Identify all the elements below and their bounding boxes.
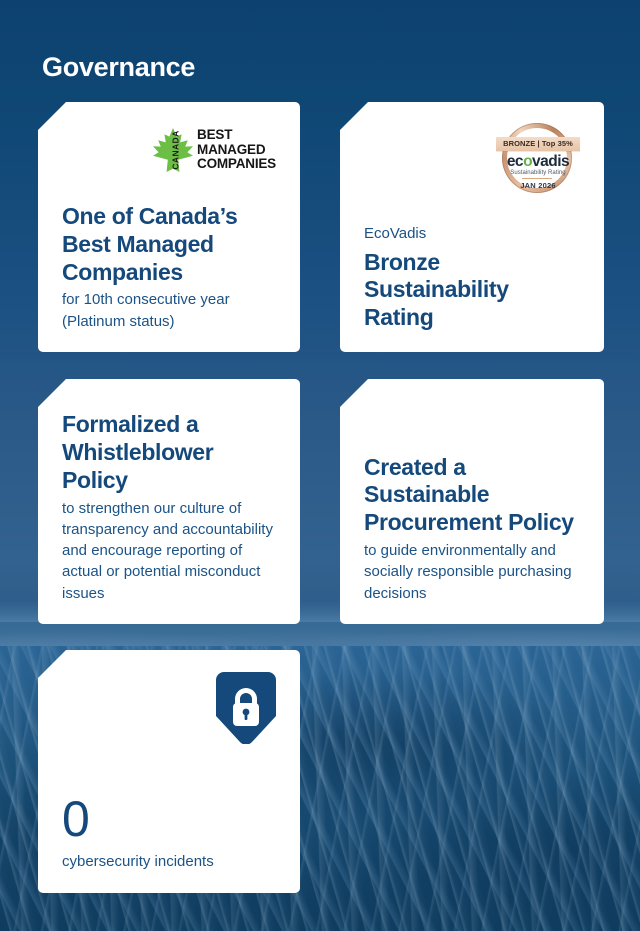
logo-canada-text: CANADA [170,130,180,169]
card-badge-row: ecovadis Sustainability Rating JAN 2026 … [364,124,580,198]
card-headline: Formalized a Whistleblower Policy [62,411,276,494]
maple-leaf-icon: CANADA [152,126,194,174]
card-best-managed-companies: CANADA BEST MANAGED COMPANIES One of Can… [38,102,300,352]
logo-line-managed: MANAGED [197,143,276,158]
card-body: EcoVadis Bronze Sustainability Rating [364,224,580,332]
medal-wordmark-part2: vadis [532,153,569,170]
card-headline: Created a Sustainable Procurement Policy [364,454,580,537]
card-whistleblower-policy: Formalized a Whistleblower Policy to str… [38,379,300,624]
medal-date: JAN 2026 [496,181,580,190]
card-subline: to guide environmentally and socially re… [364,540,580,604]
card-eyebrow: EcoVadis [364,224,580,244]
governance-infographic-page: Governance CANADA BEST MANAGED COMPANIES [0,0,640,931]
page-title: Governance [42,52,195,83]
card-headline: One of Canada’s Best Managed Companies [62,203,276,286]
stat-number: 0 [62,794,276,844]
card-icon-row [62,672,276,744]
medal-wordmark-dot: o [523,153,532,170]
card-body: One of Canada’s Best Managed Companies f… [62,203,276,332]
card-logo-row: CANADA BEST MANAGED COMPANIES [62,124,276,178]
card-body: Formalized a Whistleblower Policy to str… [62,411,276,604]
medal-subtitle: Sustainability Rating [496,170,580,176]
card-body: 0 cybersecurity incidents [62,794,276,873]
medal-divider [522,178,552,179]
stat-label: cybersecurity incidents [62,852,276,873]
medal-wordmark: ecovadis [496,153,580,171]
canada-best-managed-companies-logo: CANADA BEST MANAGED COMPANIES [152,126,276,174]
card-cybersecurity-incidents: 0 cybersecurity incidents [38,650,300,893]
card-subline: for 10th consecutive year (Platinum stat… [62,289,276,332]
card-body: Created a Sustainable Procurement Policy… [364,454,580,604]
lock-shield-icon [216,672,276,744]
logo-wordmark: BEST MANAGED COMPANIES [197,128,276,172]
logo-line-best: BEST [197,128,276,143]
ecovadis-medal-icon: ecovadis Sustainability Rating JAN 2026 … [496,123,580,197]
card-ecovadis-rating: ecovadis Sustainability Rating JAN 2026 … [340,102,604,352]
logo-line-companies: COMPANIES [197,157,276,172]
medal-wordmark-part1: ec [507,153,523,170]
card-subline: to strengthen our culture of transparenc… [62,498,276,604]
card-sustainable-procurement-policy: Created a Sustainable Procurement Policy… [340,379,604,624]
medal-ribbon-label: BRONZE | Top 35% [496,137,580,151]
card-headline: Bronze Sustainability Rating [364,249,580,332]
